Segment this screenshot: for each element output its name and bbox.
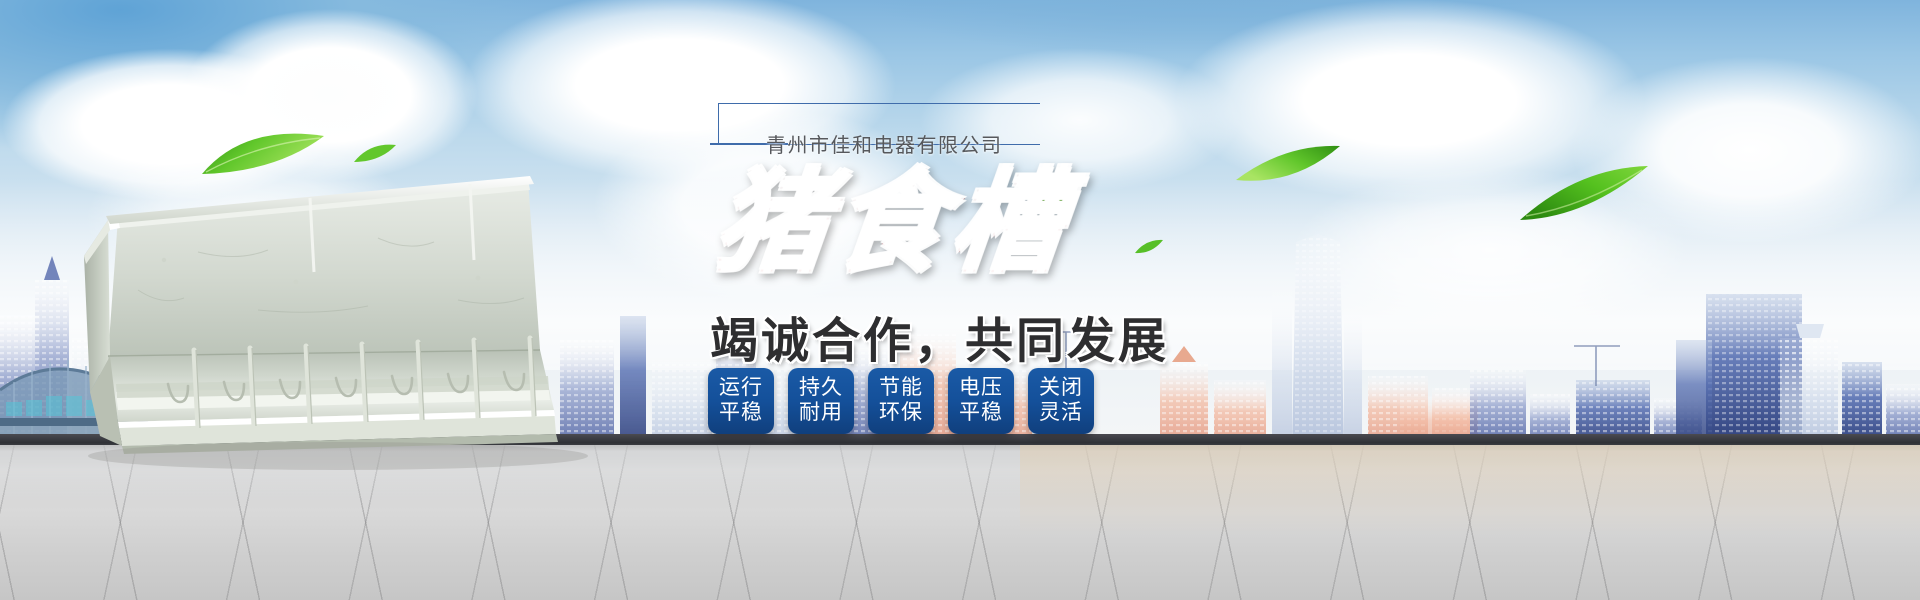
feature-badge[interactable]: 电压 平稳 [948,368,1014,434]
leaf-icon-right [1234,142,1344,188]
leaf-icon-small-left [352,142,398,166]
badge-line-2: 灵活 [1039,401,1083,426]
badge-line-1: 关闭 [1039,376,1083,401]
feature-badge-list: 运行 平稳 持久 耐用 节能 环保 电压 平稳 关闭 灵活 [708,368,1094,434]
feature-badge[interactable]: 节能 环保 [868,368,934,434]
headline-text: 猪食槽 [710,167,1076,279]
leaf-icon-left [198,128,328,186]
badge-line-1: 节能 [879,376,923,401]
leaf-icon-far-right [1516,162,1652,224]
badge-line-2: 环保 [879,401,923,426]
subheadline: 竭诚合作，共同发展 [710,301,1169,371]
feature-badge[interactable]: 运行 平稳 [708,368,774,434]
headline: 猪食槽 [716,167,1236,297]
promotional-banner: 青州市佳和电器有限公司 猪食槽 竭诚合作，共同发展 运行 平稳 持久 耐用 节能… [0,0,1920,600]
badge-line-2: 平稳 [959,401,1003,426]
badge-line-2: 平稳 [719,401,763,426]
feature-badge[interactable]: 关闭 灵活 [1028,368,1094,434]
banner-text-block: 青州市佳和电器有限公司 猪食槽 竭诚合作，共同发展 运行 平稳 持久 耐用 节能… [690,95,1250,535]
badge-line-1: 持久 [799,376,843,401]
company-name-row: 青州市佳和电器有限公司 [700,103,1040,159]
company-name: 青州市佳和电器有限公司 [766,129,1003,158]
feature-badge[interactable]: 持久 耐用 [788,368,854,434]
badge-line-1: 运行 [719,376,763,401]
badge-line-1: 电压 [959,376,1003,401]
badge-line-2: 耐用 [799,401,843,426]
product-image-pig-feeder-trough [78,160,588,480]
